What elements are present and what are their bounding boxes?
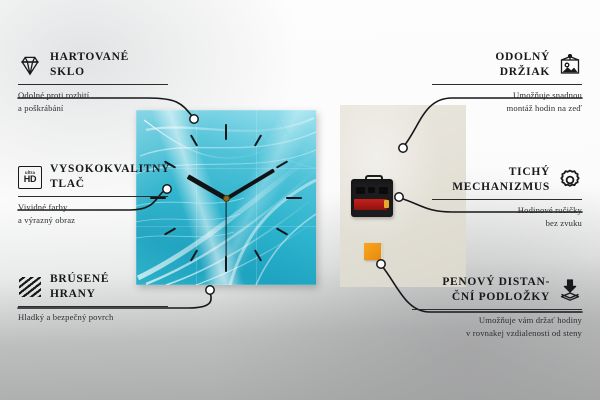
wall-hanger-icon	[558, 53, 582, 77]
feature-title: VYSOKOKVALITNÝTLAČ	[50, 162, 170, 192]
feature-foam-spacers[interactable]: PENOVÝ DISTAN-ČNÍ PODLOŽKY Umožňuje vám …	[412, 275, 582, 339]
feature-description: Umožňuje snadnoumontáž hodin na zeď	[432, 89, 582, 113]
feature-divider	[432, 84, 582, 85]
feature-beveled-edges[interactable]: BRÚSENÉHRANY Hladký a bezpečný povrch	[18, 272, 168, 324]
feature-header: HARTOVANÉSKLO	[18, 50, 168, 80]
feature-title: PENOVÝ DISTAN-ČNÍ PODLOŽKY	[442, 275, 550, 305]
feature-divider	[412, 309, 582, 310]
ultra-hd-icon: ultra HD	[18, 165, 42, 189]
connector-dot-mechanism	[395, 193, 403, 201]
feature-title: HARTOVANÉSKLO	[50, 50, 129, 80]
feature-title: BRÚSENÉHRANY	[50, 272, 109, 302]
feature-high-quality-print[interactable]: ultra HD VYSOKOKVALITNÝTLAČ Vividné farb…	[18, 162, 168, 226]
feature-header: TICHÝMECHANIZMUS	[432, 165, 582, 195]
feature-divider	[432, 199, 582, 200]
feature-divider	[18, 306, 168, 307]
diamond-icon	[18, 53, 42, 77]
feature-header: ultra HD VYSOKOKVALITNÝTLAČ	[18, 162, 168, 192]
gear-icon	[558, 168, 582, 192]
connector-dot-beveled-edges	[206, 286, 214, 294]
foam-spacer-icon	[558, 278, 582, 302]
feature-hardened-glass[interactable]: HARTOVANÉSKLO Odolné proti rozbitía pošk…	[18, 50, 168, 114]
feature-divider	[18, 196, 168, 197]
connector-dot-hanger	[399, 144, 407, 152]
feature-durable-hanger[interactable]: ODOLNÝDRŽIAK Umožňuje snadnoumontáž hodi…	[432, 50, 582, 114]
connector-dot-hardened-glass	[190, 115, 198, 123]
feature-description: Hladký a bezpečný povrch	[18, 311, 168, 323]
beveled-edges-icon	[18, 275, 42, 299]
feature-header: PENOVÝ DISTAN-ČNÍ PODLOŽKY	[412, 275, 582, 305]
connector-dot-foam	[377, 260, 385, 268]
ultra-hd-icon-main-label: HD	[24, 175, 37, 184]
feature-title: TICHÝMECHANIZMUS	[452, 165, 550, 195]
feature-description: Hodinové ručičkybez zvuku	[432, 204, 582, 228]
feature-silent-mechanism[interactable]: TICHÝMECHANIZMUS Hodinové ručičkybez zvu…	[432, 165, 582, 229]
feature-description: Vividné farbya výrazný obraz	[18, 201, 168, 225]
product-infographic: HARTOVANÉSKLO Odolné proti rozbitía pošk…	[0, 0, 600, 400]
feature-description: Umožňuje vám držať hodinyv rovnakej vzdi…	[412, 314, 582, 338]
feature-title: ODOLNÝDRŽIAK	[495, 50, 550, 80]
feature-divider	[18, 84, 168, 85]
feature-header: BRÚSENÉHRANY	[18, 272, 168, 302]
feature-description: Odolné proti rozbitía poškrábání	[18, 89, 168, 113]
feature-header: ODOLNÝDRŽIAK	[432, 50, 582, 80]
